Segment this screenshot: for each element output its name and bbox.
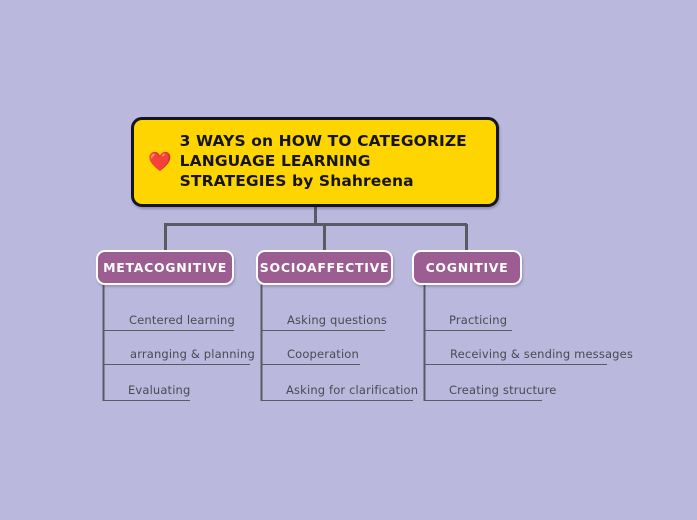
leaf-label: Creating structure: [449, 383, 556, 397]
mindmap-canvas: ❤️ 3 WAYS on HOW TO CATEGORIZE LANGUAGE …: [0, 0, 697, 520]
root-node[interactable]: ❤️ 3 WAYS on HOW TO CATEGORIZE LANGUAGE …: [131, 117, 499, 207]
leaf-item[interactable]: arranging & planning: [103, 339, 263, 365]
branch-label: METACOGNITIVE: [103, 260, 227, 275]
branch-label: SOCIOAFFECTIVE: [260, 260, 389, 275]
leaf-item[interactable]: Evaluating: [103, 373, 218, 401]
leaf-item[interactable]: Practicing: [424, 305, 519, 331]
branch-label: COGNITIVE: [426, 260, 509, 275]
branch-node-cognitive[interactable]: COGNITIVE: [412, 250, 522, 285]
leaf-label: arranging & planning: [130, 347, 255, 361]
leaf-underline: [103, 400, 190, 402]
leaf-label: Asking for clarification: [286, 383, 418, 397]
leaf-label: Centered learning: [129, 313, 235, 327]
leaf-underline: [424, 364, 607, 366]
leaf-item[interactable]: Asking for clarification: [261, 373, 416, 401]
branch-node-metacognitive[interactable]: METACOGNITIVE: [96, 250, 234, 285]
root-title: 3 WAYS on HOW TO CATEGORIZE LANGUAGE LEA…: [180, 132, 467, 192]
leaf-label: Receiving & sending messages: [450, 347, 633, 361]
leaf-underline: [261, 400, 413, 402]
leaf-label: Evaluating: [128, 383, 190, 397]
leaf-item[interactable]: Asking questions: [261, 305, 398, 331]
leaf-label: Practicing: [449, 313, 507, 327]
leaf-label: Cooperation: [287, 347, 359, 361]
leaf-item[interactable]: Creating structure: [424, 373, 549, 401]
heart-icon: ❤️: [148, 153, 172, 172]
leaf-label: Asking questions: [287, 313, 387, 327]
leaf-underline: [424, 330, 512, 332]
leaf-underline: [261, 364, 360, 366]
leaf-underline: [103, 330, 234, 332]
leaf-item[interactable]: Receiving & sending messages: [424, 339, 610, 365]
leaf-item[interactable]: Centered learning: [103, 305, 244, 331]
leaf-underline: [103, 364, 250, 366]
leaf-item[interactable]: Cooperation: [261, 339, 376, 365]
leaf-underline: [424, 400, 542, 402]
leaf-underline: [261, 330, 385, 332]
branch-node-socioaffective[interactable]: SOCIOAFFECTIVE: [256, 250, 393, 285]
